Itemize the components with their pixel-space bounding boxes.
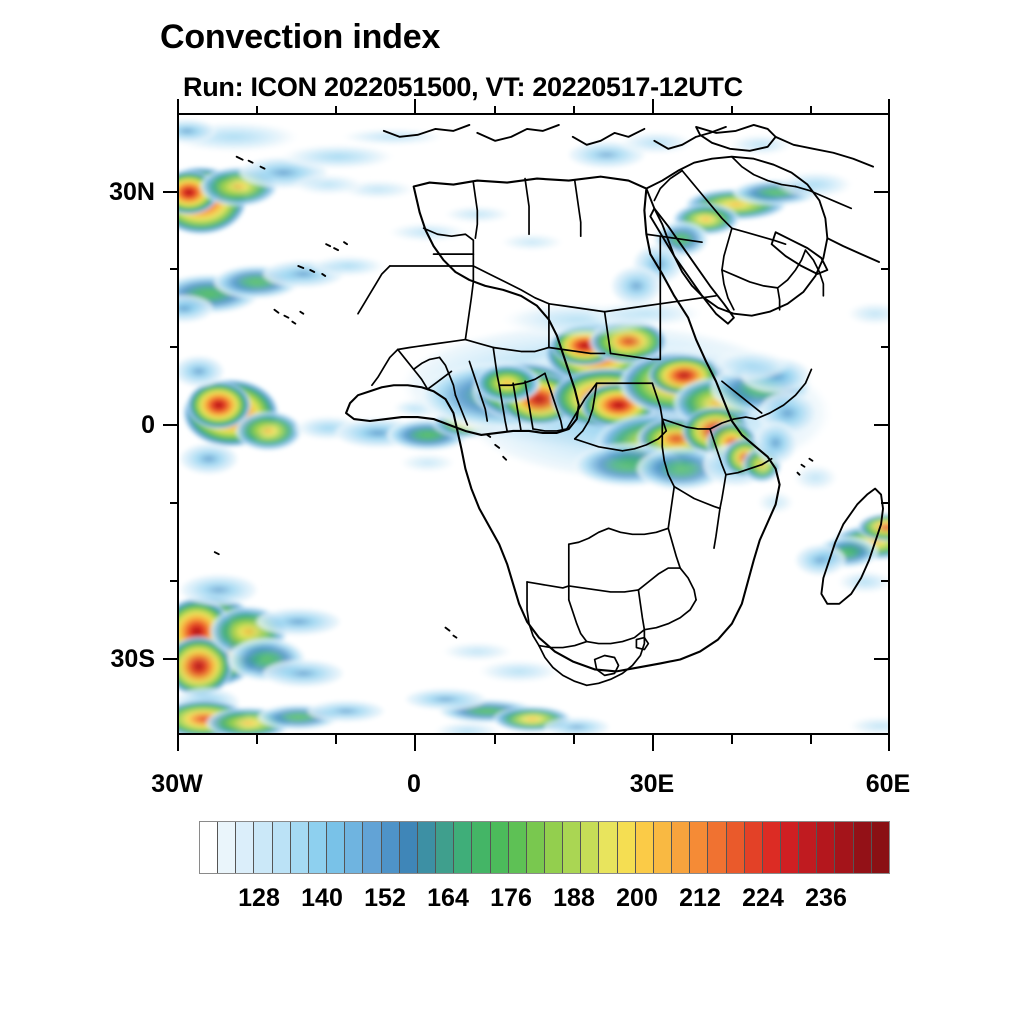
colorbar-cell (436, 822, 454, 873)
colorbar-cell (345, 822, 363, 873)
convection-index-figure: Convection index Run: ICON 2022051500, V… (0, 0, 1024, 1024)
x-tick-30e (652, 735, 654, 751)
colorbar-cell (418, 822, 436, 873)
y-axis-label-0: 0 (60, 411, 155, 440)
x-tick-0 (414, 735, 416, 751)
colorbar-label-236: 236 (786, 884, 866, 913)
x-tick-20e (573, 735, 575, 744)
colorbar-cell (327, 822, 345, 873)
y-tick-right-30n (874, 191, 890, 193)
colorbar-cell (599, 822, 617, 873)
colorbar-cell (672, 822, 690, 873)
y-tick-30n (163, 191, 179, 193)
y-tick-right-0 (874, 424, 890, 426)
colorbar-cell (509, 822, 527, 873)
x-tick-top-20e (573, 106, 575, 115)
map-plot-area (177, 113, 890, 735)
colorbar-cell (799, 822, 817, 873)
colorbar-cell (309, 822, 327, 873)
x-tick-top-10e (494, 106, 496, 115)
x-axis-label-60e: 60E (828, 770, 948, 799)
x-tick-top-10w (335, 106, 337, 115)
x-tick-10e (494, 735, 496, 744)
x-axis-label-0: 0 (354, 770, 474, 799)
y-tick-10s (170, 502, 179, 504)
y-tick-20n (170, 268, 179, 270)
map-canvas (179, 115, 888, 733)
colorbar-cell (545, 822, 563, 873)
colorbar-cell (527, 822, 545, 873)
colorbar-cell (581, 822, 599, 873)
colorbar-cell (745, 822, 763, 873)
x-tick-40e (731, 735, 733, 744)
x-tick-top-40e (731, 106, 733, 115)
colorbar-cell (454, 822, 472, 873)
colorbar-cell (618, 822, 636, 873)
colorbar-cell (654, 822, 672, 873)
colorbar-cell (400, 822, 418, 873)
y-tick-right-20s (881, 580, 890, 582)
colorbar-cell (763, 822, 781, 873)
colorbar-cell (491, 822, 509, 873)
x-tick-10w (335, 735, 337, 744)
x-tick-top-30w (177, 99, 179, 115)
colorbar-cell (781, 822, 799, 873)
x-tick-20w (256, 735, 258, 744)
colorbar-cell (218, 822, 236, 873)
x-axis-label-30w: 30W (117, 770, 237, 799)
colorbar-cell (872, 822, 889, 873)
x-tick-top-50e (810, 106, 812, 115)
colorbar-cell (835, 822, 853, 873)
colorbar-cell (254, 822, 272, 873)
colorbar-cell (363, 822, 381, 873)
colorbar-cell (708, 822, 726, 873)
y-tick-20s (170, 580, 179, 582)
colorbar-cell (291, 822, 309, 873)
colorbar-cell (817, 822, 835, 873)
y-tick-right-20n (881, 268, 890, 270)
colorbar-cell (236, 822, 254, 873)
page-title: Convection index (160, 18, 440, 57)
y-tick-right-30s (874, 658, 890, 660)
colorbar-cell (273, 822, 291, 873)
y-tick-0 (163, 424, 179, 426)
x-tick-60e (888, 735, 890, 751)
run-valid-time-subtitle: Run: ICON 2022051500, VT: 20220517-12UTC (183, 72, 743, 103)
x-tick-top-0 (414, 99, 416, 115)
x-axis-label-30e: 30E (592, 770, 712, 799)
colorbar (199, 821, 890, 874)
colorbar-cell (636, 822, 654, 873)
y-axis-label-30s: 30S (60, 645, 155, 674)
x-tick-30w (177, 735, 179, 751)
colorbar-cell (472, 822, 490, 873)
y-axis-label-30n: 30N (60, 178, 155, 207)
colorbar-cell (690, 822, 708, 873)
colorbar-cell (382, 822, 400, 873)
x-tick-50e (810, 735, 812, 744)
x-tick-top-60e (888, 99, 890, 115)
colorbar-cell (200, 822, 218, 873)
x-tick-top-20w (256, 106, 258, 115)
colorbar-cell (563, 822, 581, 873)
y-tick-right-10n (881, 346, 890, 348)
y-tick-right-10s (881, 502, 890, 504)
colorbar-cell (727, 822, 745, 873)
y-tick-30s (163, 658, 179, 660)
colorbar-cell (854, 822, 872, 873)
x-tick-top-30e (652, 99, 654, 115)
y-tick-10n (170, 346, 179, 348)
